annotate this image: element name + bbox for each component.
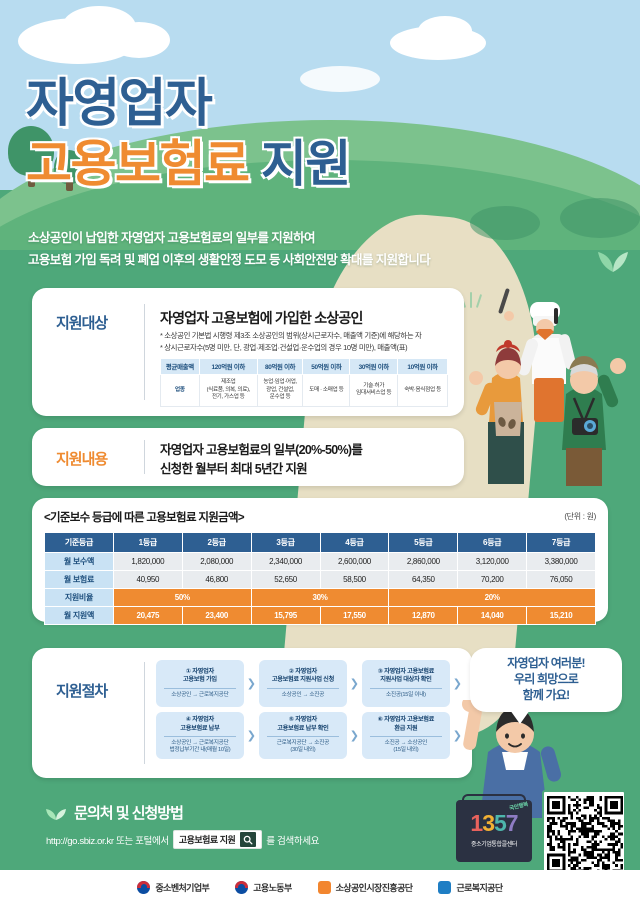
row-header: 월 지원액 bbox=[45, 607, 114, 625]
happiness-badge: 국민행복 bbox=[508, 800, 528, 812]
contact-suffix: 를 검색하세요 bbox=[266, 833, 319, 847]
footer-logo-name: 중소벤처기업부 bbox=[155, 881, 209, 894]
subtitle-line-1: 소상공인이 납입한 자영업자 고용보험료의 일부를 지원하여 bbox=[28, 228, 430, 250]
footer-logo-name: 고용노동부 bbox=[253, 881, 291, 894]
industry-cell: 숙박·음식점업 등 bbox=[398, 375, 448, 407]
procedure-step: ② 자영업자고용보험료 지원사업 신청소상공인 → 소진공 bbox=[259, 660, 347, 707]
procedure-step: ⑥ 자영업자 고용보험료환급 지원소진공 → 소상공인(15일 내외) bbox=[362, 712, 450, 759]
table-row: 업종제조업(식료품, 의복, 의료),전기, 가스업 등농업·임업·어업,광업,… bbox=[161, 375, 448, 407]
search-keyword: 고용보험료 지원 bbox=[179, 833, 235, 846]
row-header: 지원비율 bbox=[45, 589, 114, 607]
title-tail: 지원 bbox=[261, 136, 350, 192]
table-cell: 70,200 bbox=[458, 571, 527, 589]
rate-cell: 50% bbox=[113, 589, 251, 607]
arrow-icon: ❯ bbox=[350, 729, 359, 742]
procedure-step-sub: 소진공(15일 이내) bbox=[364, 692, 448, 699]
sprout-icon bbox=[596, 246, 630, 272]
row-header: 월 보수액 bbox=[45, 553, 114, 571]
procedure-step: ④ 자영업자고용보험료 납부소상공인 → 근로복지공단법정납부기간 내(매월 1… bbox=[156, 712, 244, 759]
procedure-step-title: ④ 자영업자고용보험료 납부 bbox=[158, 716, 242, 733]
contact-section: 문의처 및 신청방법 http://go.sbiz.or.kr 또는 포털에서 … bbox=[46, 802, 319, 849]
table-cell: 40,950 bbox=[113, 571, 182, 589]
industry-cell: 제조업(식료품, 의복, 의료),전기, 가스업 등 bbox=[199, 375, 257, 407]
divider bbox=[164, 688, 236, 689]
bush-icon bbox=[470, 206, 540, 240]
support-amount-card: <기준보수 등급에 따른 고용보험료 지원금액> (단위 : 원) 기준등급1등… bbox=[32, 498, 608, 622]
table-cell: 64,350 bbox=[389, 571, 458, 589]
divider bbox=[267, 736, 339, 737]
grade-col-header: 7등급 bbox=[527, 533, 596, 553]
table-cell: 3,380,000 bbox=[527, 553, 596, 571]
table-head-row: 기준등급1등급2등급3등급4등급5등급6등급7등급 bbox=[45, 533, 596, 553]
divider bbox=[144, 440, 145, 474]
divider bbox=[144, 662, 145, 764]
contact-head: 문의처 및 신청방법 bbox=[46, 802, 319, 824]
procedure-step: ① 자영업자고용보험 가입소상공인 → 근로복지공단 bbox=[156, 660, 244, 707]
hotline-sign: 국민행복 1357 중소기업통합콜센터 bbox=[456, 800, 532, 862]
procedure-step-sub: 소진공 → 소상공인(15일 내외) bbox=[364, 740, 448, 755]
table-cell: 2,600,000 bbox=[320, 553, 389, 571]
hotline-number: 1357 bbox=[456, 812, 532, 835]
industry-col-header: 평균매출액 bbox=[161, 359, 200, 375]
benefit-line-2: 신청한 월부터 최대 5년간 지원 bbox=[160, 460, 362, 479]
industry-col-header: 50억원 이하 bbox=[303, 359, 350, 375]
benefit-line-1: 자영업자 고용보험료의 일부(20%-50%)를 bbox=[160, 441, 362, 460]
table-row: 월 지원액20,47523,40015,79517,55012,87014,04… bbox=[45, 607, 596, 625]
procedure-step-title: ② 자영업자고용보험료 지원사업 신청 bbox=[261, 668, 345, 685]
grade-col-header: 기준등급 bbox=[45, 533, 114, 553]
procedure-steps: ① 자영업자고용보험 가입소상공인 → 근로복지공단❯② 자영업자고용보험료 지… bbox=[156, 660, 462, 764]
hotline-digit: 7 bbox=[506, 810, 518, 836]
woman-character bbox=[469, 340, 524, 484]
divider bbox=[267, 688, 339, 689]
table-row-rate: 지원비율50%30%20% bbox=[45, 589, 596, 607]
benefit-head: 지원내용 bbox=[56, 448, 107, 469]
arrow-icon: ❯ bbox=[247, 729, 256, 742]
procedure-card: 지원절차 ① 자영업자고용보험 가입소상공인 → 근로복지공단❯② 자영업자고용… bbox=[32, 648, 472, 778]
divider bbox=[164, 736, 236, 737]
table-body: 월 보수액1,820,0002,080,0002,340,0002,600,00… bbox=[45, 553, 596, 625]
title-line-2: 고용보험료 지원 bbox=[26, 139, 466, 189]
procedure-step-sub: 소상공인 → 소진공 bbox=[261, 692, 345, 699]
procedure-step-sub: 근로복지공단 → 소진공(30일 내외) bbox=[261, 740, 345, 755]
table-cell: 46,800 bbox=[182, 571, 251, 589]
eligibility-bullet-1: * 소상공인 기본법 시행령 제3조 소상공인의 범위(상시근로자수, 매출액 … bbox=[160, 330, 421, 342]
hotline-digit: 1 bbox=[470, 810, 482, 836]
table-cell: 23,400 bbox=[182, 607, 251, 625]
industry-col-header: 30억원 이하 bbox=[350, 359, 398, 375]
table-cell: 2,080,000 bbox=[182, 553, 251, 571]
grade-col-header: 1등급 bbox=[113, 533, 182, 553]
table-cell: 17,550 bbox=[320, 607, 389, 625]
table-cell: 52,650 bbox=[251, 571, 320, 589]
footer-logo: 소상공인시장진흥공단 bbox=[318, 881, 413, 894]
eligibility-card: 지원대상 자영업자 고용보험에 가입한 소상공인 * 소상공인 기본법 시행령 … bbox=[32, 288, 464, 416]
industry-col-header: 120억원 이하 bbox=[199, 359, 257, 375]
table-cell: 15,795 bbox=[251, 607, 320, 625]
speech-bubble: 자영업자 여러분! 우리 희망으로 함께 가요! bbox=[470, 648, 622, 712]
procedure-step-title: ③ 자영업자 고용보험료지원사업 대상자 확인 bbox=[364, 668, 448, 685]
illustration-merchants bbox=[462, 282, 640, 487]
senior-character bbox=[562, 356, 626, 486]
contact-line: http://go.sbiz.or.kr 또는 포털에서 고용보험료 지원 를 … bbox=[46, 830, 319, 849]
table-cell: 2,340,000 bbox=[251, 553, 320, 571]
hotline-caption: 중소기업통합콜센터 bbox=[456, 839, 532, 848]
sbiz-icon bbox=[318, 881, 331, 894]
eligibility-head: 지원대상 bbox=[56, 312, 107, 333]
table-cell: 14,040 bbox=[458, 607, 527, 625]
table-head-row: 평균매출액120억원 이하80억원 이하50억원 이하30억원 이하10억원 이… bbox=[161, 359, 448, 375]
procedure-step-title: ⑤ 자영업자고용보험료 납부 확인 bbox=[261, 716, 345, 733]
procedure-row-bottom: ④ 자영업자고용보험료 납부소상공인 → 근로복지공단법정납부기간 내(매월 1… bbox=[156, 712, 462, 759]
procedure-step: ③ 자영업자 고용보험료지원사업 대상자 확인소진공(15일 이내) bbox=[362, 660, 450, 707]
footer-logo: 중소벤처기업부 bbox=[137, 881, 209, 894]
table-cell: 2,860,000 bbox=[389, 553, 458, 571]
subtitle-line-2: 고용보험 가입 독려 및 폐업 이후의 생활안정 도모 등 사회안전망 확대를 … bbox=[28, 250, 430, 272]
procedure-step-sub: 소상공인 → 근로복지공단 bbox=[158, 692, 242, 699]
hotline-digit: 3 bbox=[482, 810, 494, 836]
table-cell: 12,870 bbox=[389, 607, 458, 625]
arrow-icon: ❯ bbox=[350, 677, 359, 690]
procedure-step: ⑤ 자영업자고용보험료 납부 확인근로복지공단 → 소진공(30일 내외) bbox=[259, 712, 347, 759]
table-cell: 76,050 bbox=[527, 571, 596, 589]
grade-col-header: 6등급 bbox=[458, 533, 527, 553]
search-keyword-box[interactable]: 고용보험료 지원 bbox=[173, 830, 262, 849]
table-row: 월 보험료40,95046,80052,65058,50064,35070,20… bbox=[45, 571, 596, 589]
footer-logos: 중소벤처기업부고용노동부소상공인시장진흥공단근로복지공단 bbox=[0, 870, 640, 905]
poster-title: 자영업자 고용보험료 지원 bbox=[26, 78, 466, 189]
table-caption: <기준보수 등급에 따른 고용보험료 지원금액> bbox=[44, 509, 244, 525]
eligibility-bullet-2: * 상시근로자수(5명 미만, 단, 광업·제조업·건설업·운수업의 경우 10… bbox=[160, 342, 421, 354]
industry-col-header: 10억원 이하 bbox=[398, 359, 448, 375]
qr-code-image[interactable] bbox=[547, 796, 623, 872]
procedure-step-sub: 소상공인 → 근로복지공단법정납부기간 내(매월 10일) bbox=[158, 740, 242, 755]
bubble-line-3: 함께 가요! bbox=[476, 688, 616, 704]
grade-col-header: 2등급 bbox=[182, 533, 251, 553]
industry-col-header: 80억원 이하 bbox=[257, 359, 303, 375]
contact-head-text: 문의처 및 신청방법 bbox=[74, 805, 183, 822]
benefit-card: 지원내용 자영업자 고용보험료의 일부(20%-50%)를 신청한 월부터 최대… bbox=[32, 428, 464, 486]
table-row: 월 보수액1,820,0002,080,0002,340,0002,600,00… bbox=[45, 553, 596, 571]
grade-col-header: 3등급 bbox=[251, 533, 320, 553]
hotline-digit: 5 bbox=[494, 810, 506, 836]
sprout-icon bbox=[46, 807, 66, 824]
footer-logo: 고용노동부 bbox=[235, 881, 291, 894]
industry-cell: 업종 bbox=[161, 375, 200, 407]
industry-cell: 도매 · 소매업 등 bbox=[303, 375, 350, 407]
bubble-line-2: 우리 희망으로 bbox=[476, 672, 616, 688]
table-cell: 20,475 bbox=[113, 607, 182, 625]
grade-col-header: 4등급 bbox=[320, 533, 389, 553]
title-highlight: 고용보험료 bbox=[26, 136, 249, 192]
benefit-text: 자영업자 고용보험료의 일부(20%-50%)를 신청한 월부터 최대 5년간 … bbox=[160, 441, 362, 479]
grade-col-header: 5등급 bbox=[389, 533, 458, 553]
bubble-line-1: 자영업자 여러분! bbox=[476, 656, 616, 672]
industry-threshold-table: 평균매출액120억원 이하80억원 이하50억원 이하30억원 이하10억원 이… bbox=[160, 358, 448, 407]
bush-icon bbox=[560, 198, 640, 238]
title-line-1: 자영업자 bbox=[26, 78, 466, 130]
row-header: 월 보험료 bbox=[45, 571, 114, 589]
rate-cell: 20% bbox=[389, 589, 596, 607]
eligibility-bullets: * 소상공인 기본법 시행령 제3조 소상공인의 범위(상시근로자수, 매출액 … bbox=[160, 330, 421, 354]
table-cell: 15,210 bbox=[527, 607, 596, 625]
support-amount-table: 기준등급1등급2등급3등급4등급5등급6등급7등급 월 보수액1,820,000… bbox=[44, 532, 596, 625]
procedure-row-top: ① 자영업자고용보험 가입소상공인 → 근로복지공단❯② 자영업자고용보험료 지… bbox=[156, 660, 462, 707]
rate-cell: 30% bbox=[251, 589, 389, 607]
industry-cell: 기술·허가임대서비스업 등 bbox=[350, 375, 398, 407]
procedure-head: 지원절차 bbox=[56, 680, 107, 701]
table-cell: 3,120,000 bbox=[458, 553, 527, 571]
table-cell: 58,500 bbox=[320, 571, 389, 589]
sign-rope bbox=[462, 794, 526, 801]
procedure-step-title: ① 자영업자고용보험 가입 bbox=[158, 668, 242, 685]
search-icon[interactable] bbox=[240, 832, 256, 847]
industry-cell: 농업·임업·어업,광업, 건설업,운수업 등 bbox=[257, 375, 303, 407]
taeguk-icon bbox=[137, 881, 150, 894]
table-unit: (단위 : 원) bbox=[564, 511, 596, 522]
poster-subtitle: 소상공인이 납입한 자영업자 고용보험료의 일부를 지원하여 고용보험 가입 독… bbox=[28, 228, 430, 272]
divider bbox=[370, 736, 442, 737]
footer-logo-name: 소상공인시장진흥공단 bbox=[336, 881, 413, 894]
procedure-step-title: ⑥ 자영업자 고용보험료환급 지원 bbox=[364, 716, 448, 733]
poster-root: 자영업자 고용보험료 지원 소상공인이 납입한 자영업자 고용보험료의 일부를 … bbox=[0, 0, 640, 905]
table-cell: 1,820,000 bbox=[113, 553, 182, 571]
divider bbox=[144, 304, 145, 400]
cloud-icon bbox=[418, 16, 472, 46]
comwel-icon bbox=[438, 881, 451, 894]
cloud-icon bbox=[108, 22, 170, 58]
eligibility-title: 자영업자 고용보험에 가입한 소상공인 bbox=[160, 308, 363, 328]
contact-url[interactable]: http://go.sbiz.or.kr 또는 포털에서 bbox=[46, 833, 169, 847]
taeguk-icon bbox=[235, 881, 248, 894]
arrow-icon: ❯ bbox=[247, 677, 256, 690]
arrow-icon: ❯ bbox=[453, 677, 462, 690]
footer-logo: 근로복지공단 bbox=[438, 881, 502, 894]
divider bbox=[370, 688, 442, 689]
footer-logo-name: 근로복지공단 bbox=[456, 881, 502, 894]
